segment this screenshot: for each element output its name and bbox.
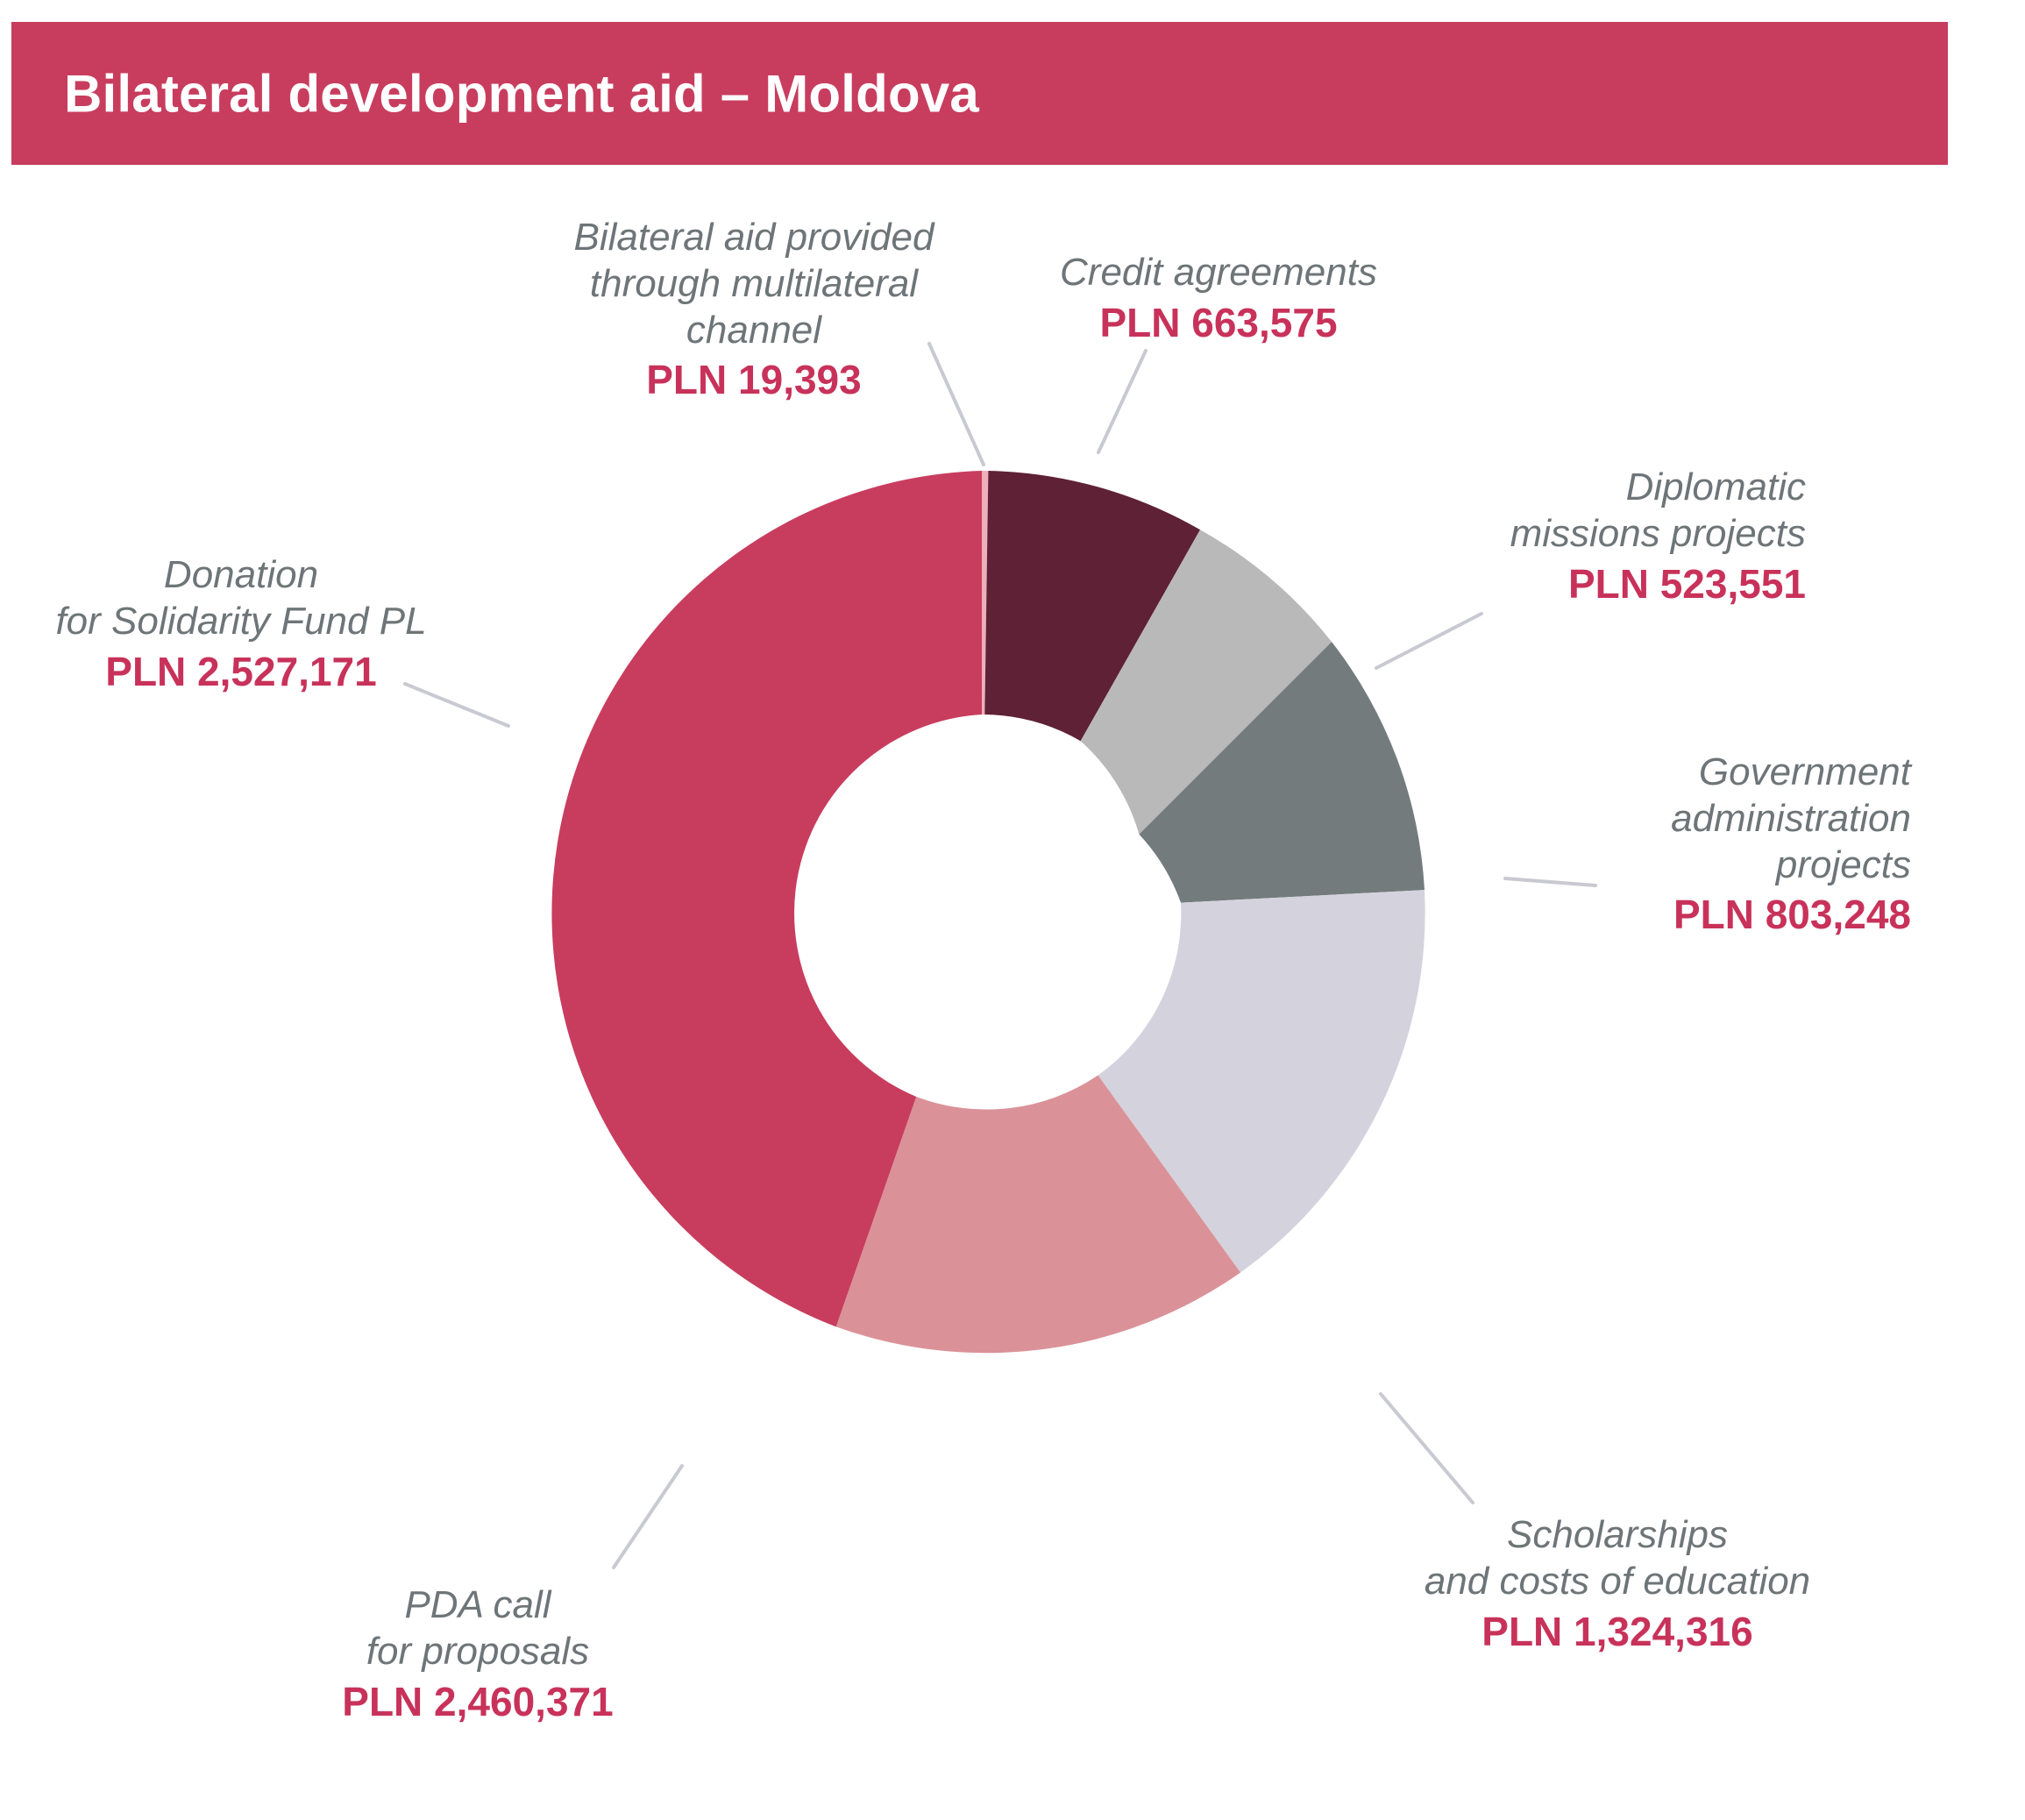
callout-credit-agreements-value: PLN 663,575 [1026,298,1411,348]
callout-donation-solidarity-fund-category: Donation for Solidarity Fund PL [53,552,430,645]
callout-scholarships-education: Scholarships and costs of education PLN … [1389,1512,1845,1657]
donut-slices [551,471,1425,1353]
callout-government-administration-value: PLN 803,248 [1490,890,1911,940]
callout-scholarships-education-value: PLN 1,324,316 [1389,1607,1845,1657]
callout-multilateral-channel-category: Bilateral aid provided through multilate… [526,215,982,353]
callout-credit-agreements: Credit agreements PLN 663,575 [1026,250,1411,348]
callout-diplomatic-missions-value: PLN 523,551 [1359,559,1806,609]
callout-government-administration: Government administration projects PLN 8… [1490,750,1911,940]
callout-government-administration-category: Government administration projects [1490,750,1911,888]
callout-diplomatic-missions: Diplomatic missions projects PLN 523,551 [1359,465,1806,609]
callout-multilateral-channel-value: PLN 19,393 [526,355,982,405]
callout-pda-call-proposals-category: PDA call for proposals [298,1582,657,1675]
callout-pda-call-proposals-value: PLN 2,460,371 [298,1677,657,1727]
leader-line-pda [614,1466,682,1568]
leader-line-credit [1098,351,1146,452]
callout-donation-solidarity-fund-value: PLN 2,527,171 [53,647,430,697]
callout-diplomatic-missions-category: Diplomatic missions projects [1359,465,1806,558]
callout-credit-agreements-category: Credit agreements [1026,250,1411,296]
leader-line-scholarships [1381,1394,1473,1503]
callout-pda-call-proposals: PDA call for proposals PLN 2,460,371 [298,1582,657,1727]
callout-donation-solidarity-fund: Donation for Solidarity Fund PL PLN 2,52… [53,552,430,697]
donut-chart: Bilateral aid provided through multilate… [0,0,2025,1820]
leader-line-diplomatic [1376,614,1481,668]
callout-scholarships-education-category: Scholarships and costs of education [1389,1512,1845,1605]
callout-multilateral-channel: Bilateral aid provided through multilate… [526,215,982,405]
